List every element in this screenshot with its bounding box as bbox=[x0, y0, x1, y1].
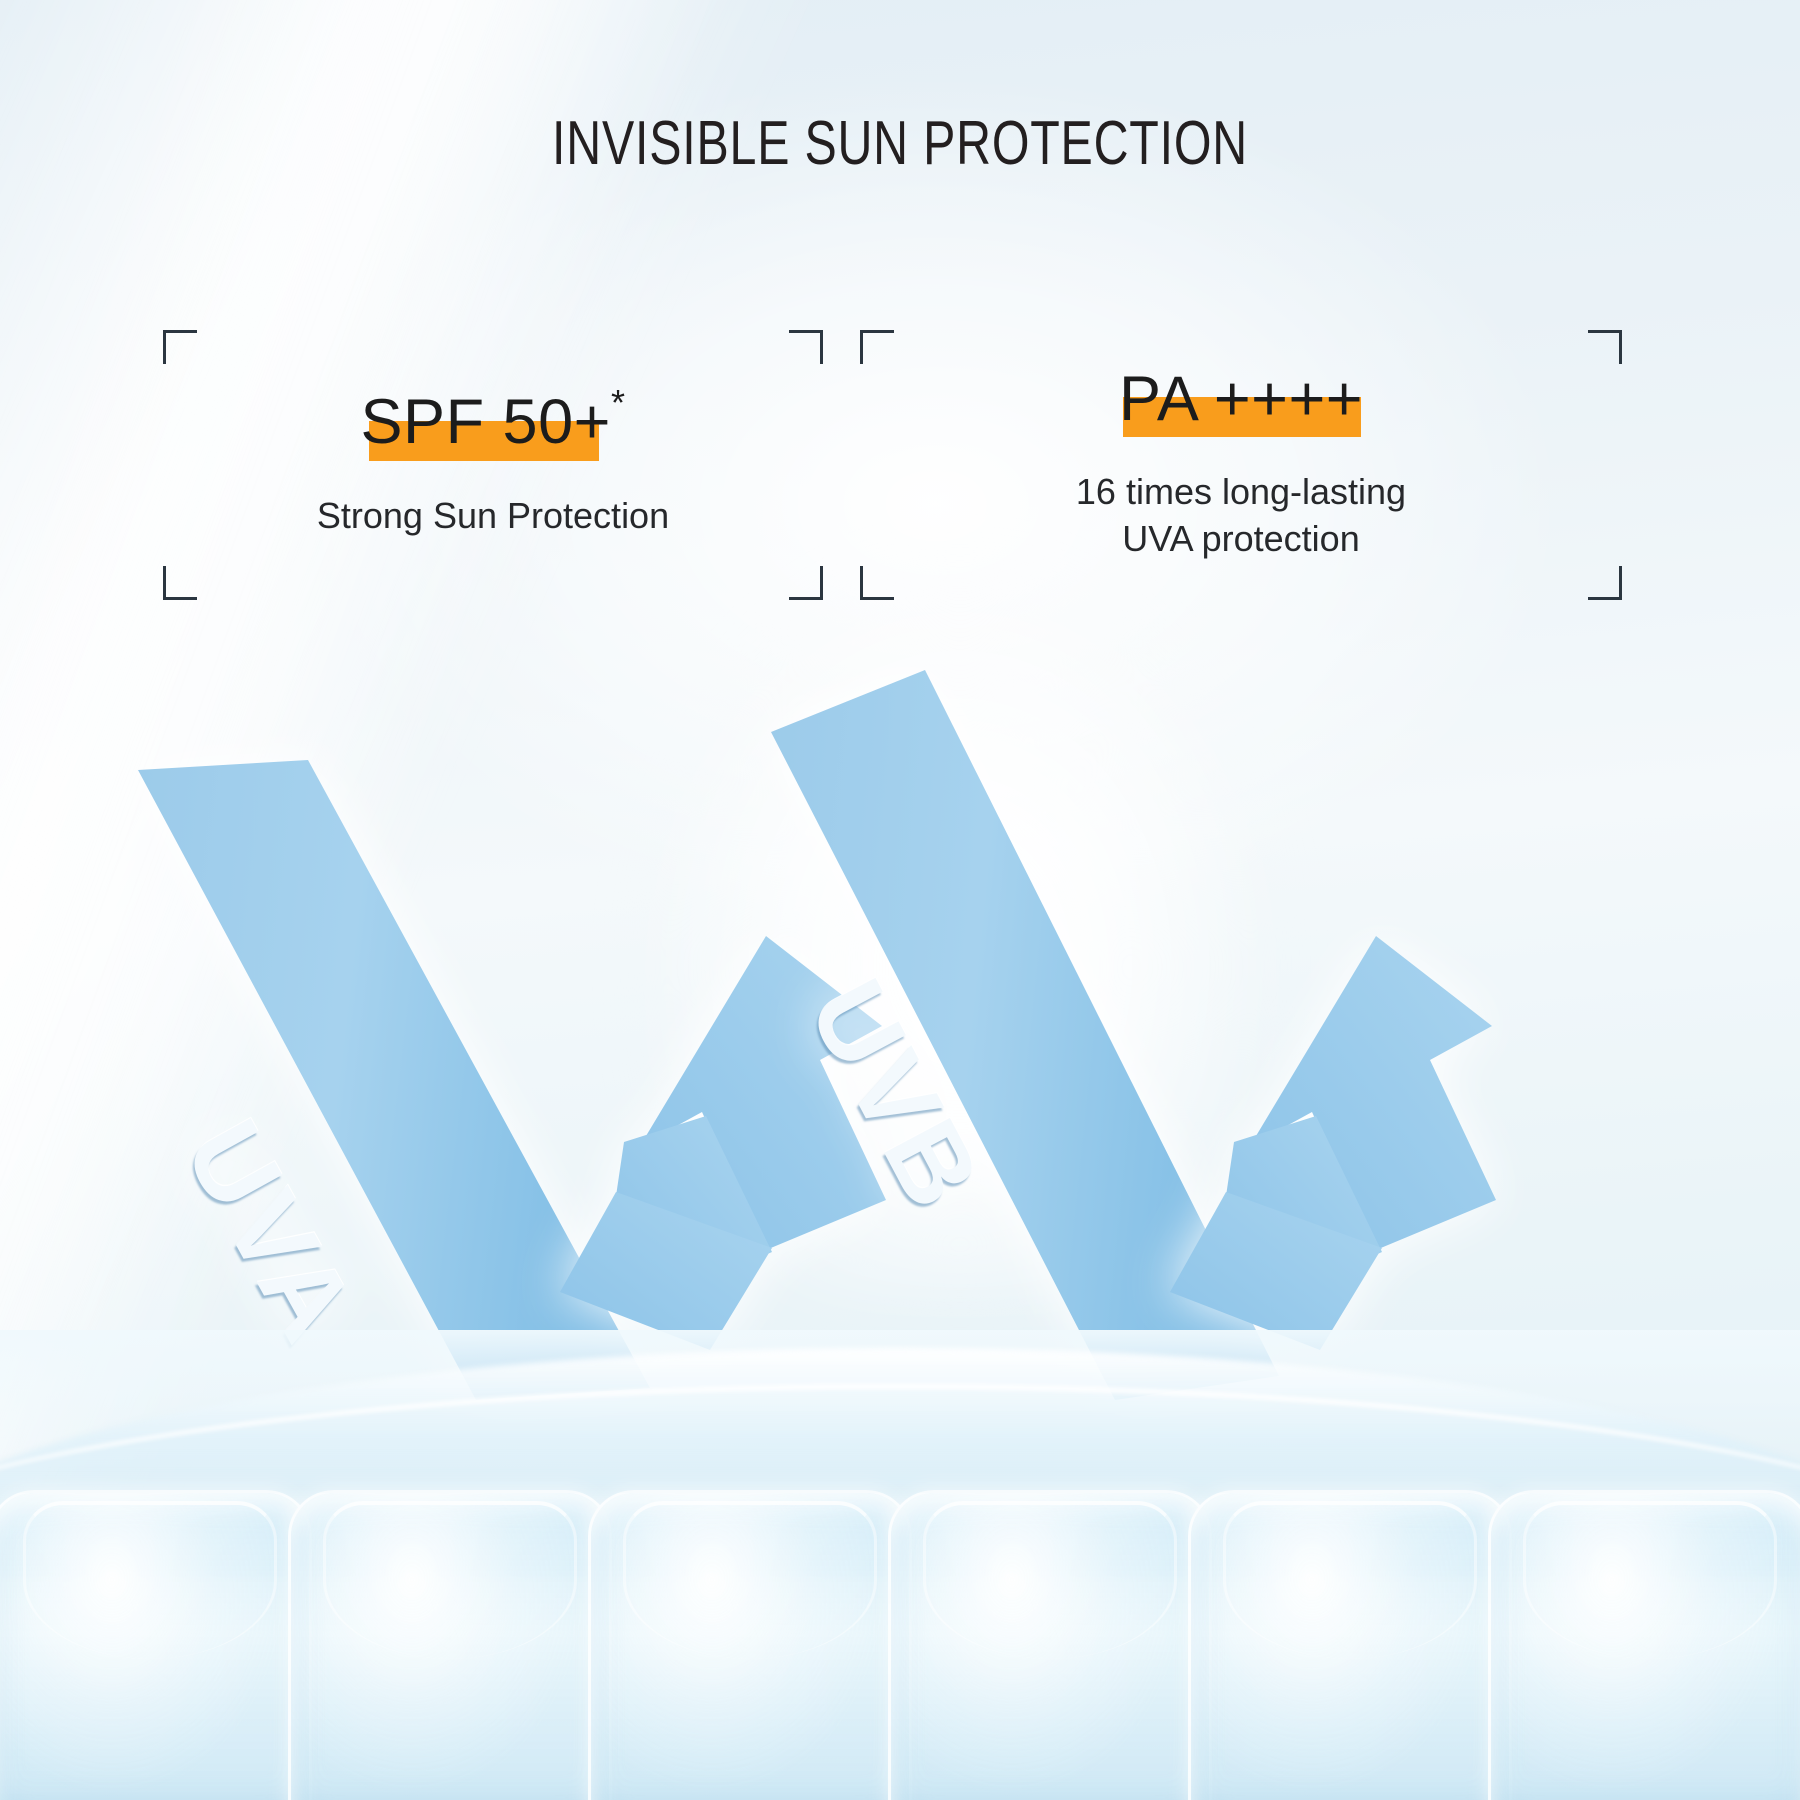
badge-spf-description: Strong Sun Protection bbox=[317, 493, 669, 540]
badge-spf: SPF 50+* Strong Sun Protection bbox=[163, 330, 823, 600]
badge-group: SPF 50+* Strong Sun Protection PA ++++ 1… bbox=[0, 0, 1800, 1800]
badge-pa: PA ++++ 16 times long-lasting UVA protec… bbox=[860, 330, 1622, 600]
badge-pa-headline-wrap: PA ++++ bbox=[1119, 367, 1363, 431]
badge-pa-headline: PA ++++ bbox=[1119, 367, 1363, 431]
badge-spf-headline: SPF 50+* bbox=[361, 390, 626, 454]
product-feature-banner: INVISIBLE SUN PROTECTION SPF 50+* Strong… bbox=[0, 0, 1800, 1800]
badge-spf-headline-wrap: SPF 50+* bbox=[361, 390, 626, 454]
badge-spf-superscript: * bbox=[611, 382, 626, 423]
badge-spf-headline-text: SPF 50+ bbox=[361, 387, 611, 457]
badge-pa-description: 16 times long-lasting UVA protection bbox=[1076, 469, 1406, 563]
